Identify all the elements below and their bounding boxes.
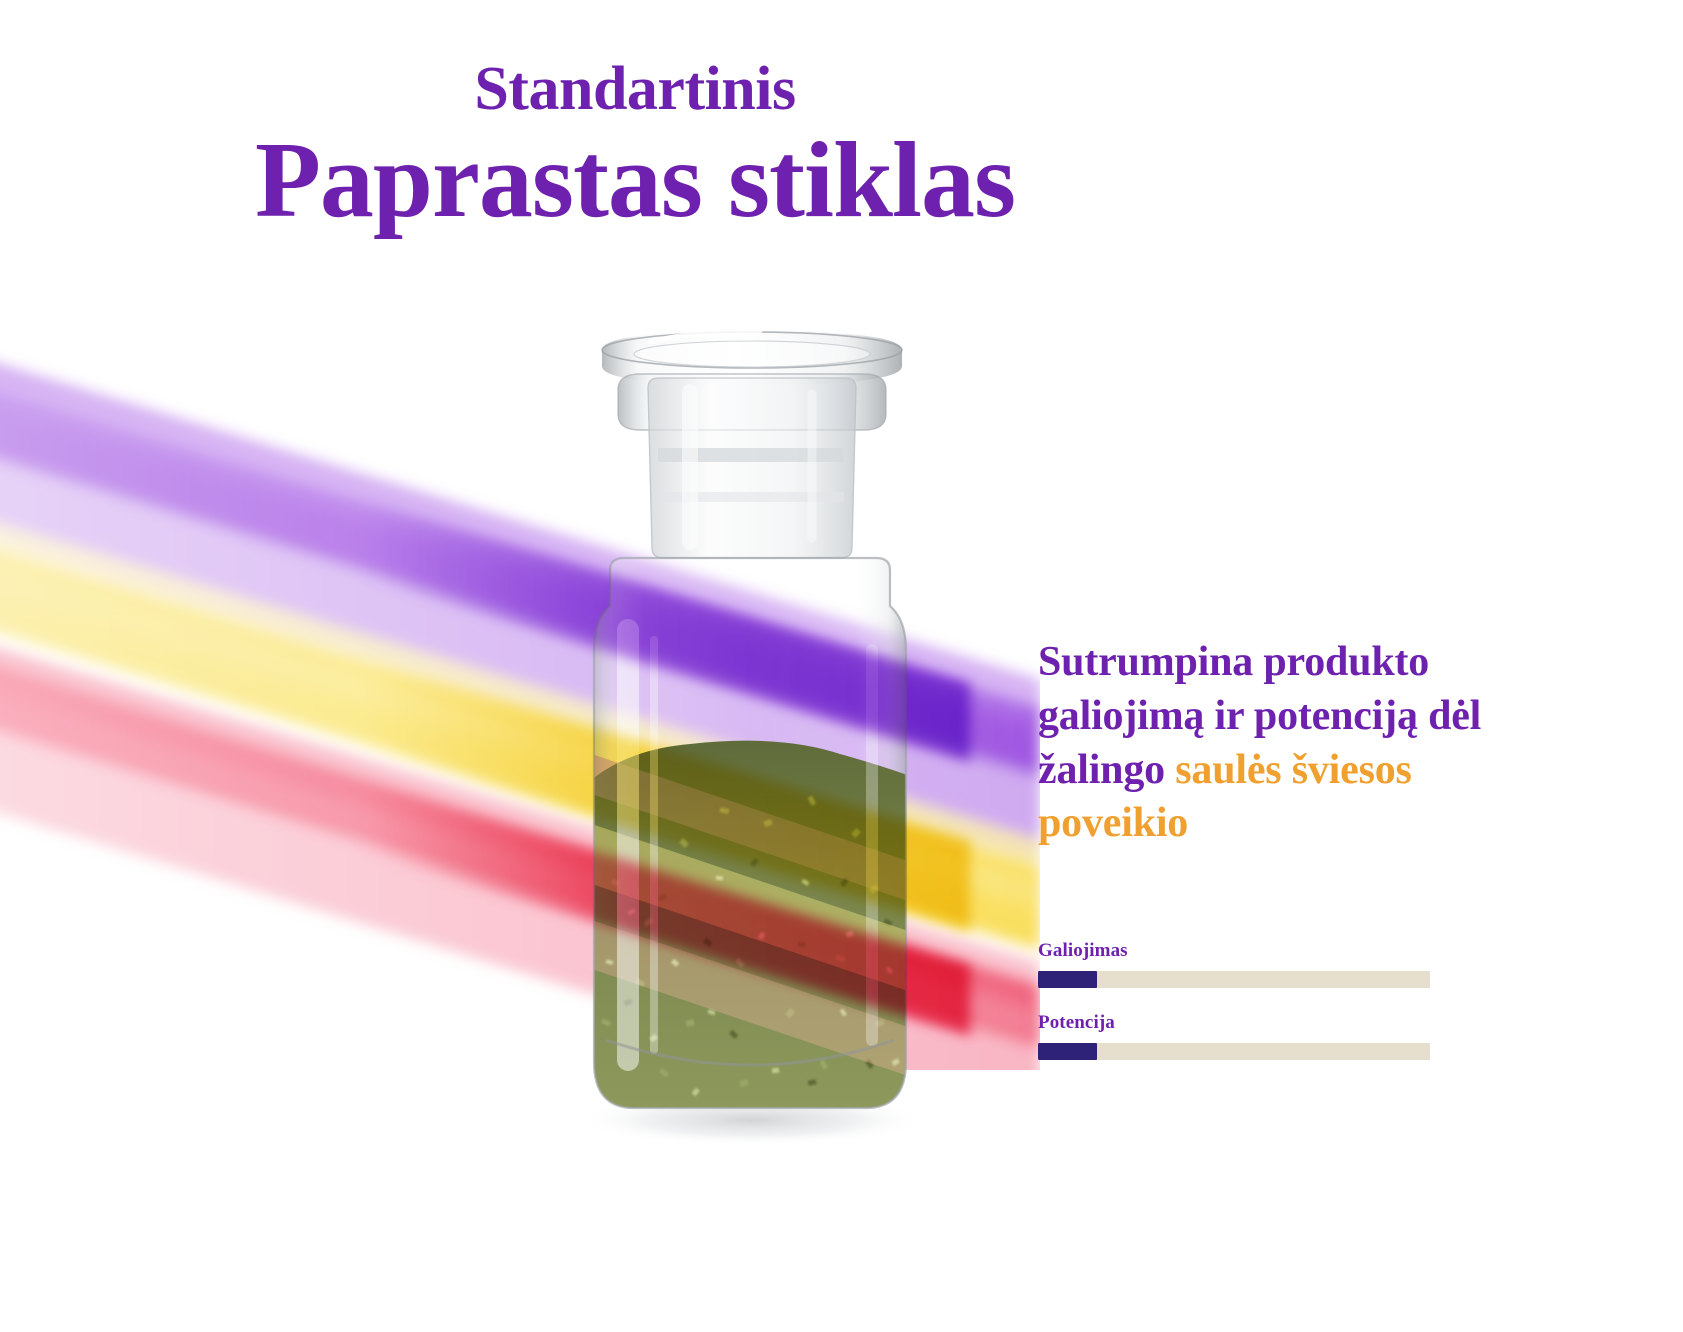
meter-track-potencija bbox=[1038, 1043, 1430, 1060]
meter-fill-potencija bbox=[1038, 1043, 1097, 1060]
page-title: Paprastas stiklas bbox=[0, 126, 1270, 236]
meter-group: Galiojimas Potencija bbox=[1038, 940, 1430, 1060]
description-text: Sutrumpina produkto galiojimą ir potenci… bbox=[1038, 636, 1558, 851]
eyebrow-label: Standartinis bbox=[0, 58, 1270, 120]
meter-galiojimas: Galiojimas bbox=[1038, 940, 1430, 988]
meter-label-potencija: Potencija bbox=[1038, 1012, 1430, 1034]
slide-canvas: Standartinis Paprastas stiklas bbox=[0, 0, 1683, 1332]
title-block: Standartinis Paprastas stiklas bbox=[0, 58, 1270, 236]
glass-jar-illustration bbox=[540, 320, 960, 1150]
meter-label-galiojimas: Galiojimas bbox=[1038, 940, 1430, 962]
meter-fill-galiojimas bbox=[1038, 971, 1097, 988]
meter-track-galiojimas bbox=[1038, 971, 1430, 988]
description-panel: Sutrumpina produkto galiojimą ir potenci… bbox=[1038, 636, 1558, 851]
meter-potencija: Potencija bbox=[1038, 1012, 1430, 1060]
